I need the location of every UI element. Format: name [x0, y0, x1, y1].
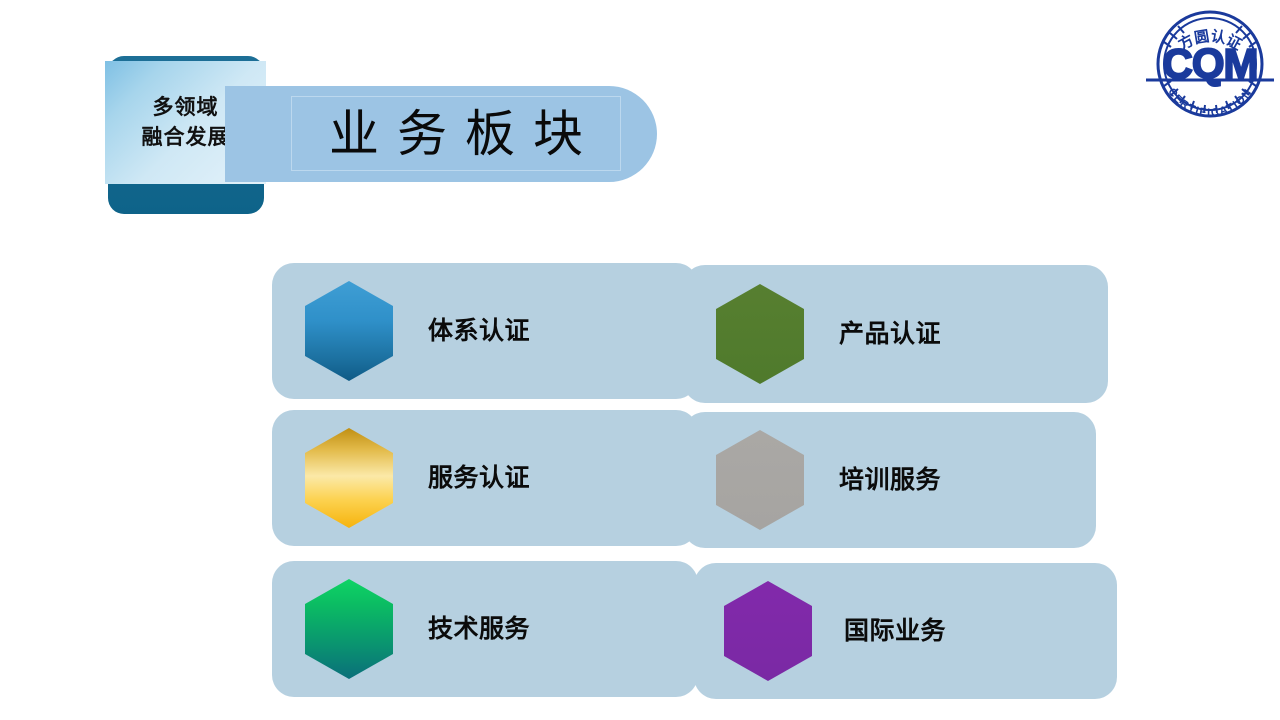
business-card-label-0: 体系认证	[428, 319, 530, 344]
business-card-label-2: 服务认证	[428, 466, 530, 491]
hexagon-icon-blue	[305, 281, 393, 381]
cqm-certification-logo: 方圆认证 CERTIFICATION CQM	[1144, 2, 1276, 122]
svg-text:CERTIFICATION: CERTIFICATION	[1165, 86, 1255, 119]
hexagon-icon-gray	[716, 430, 804, 530]
business-card-5[interactable]: 国际业务	[694, 563, 1117, 699]
slogan-line-2: 融合发展	[142, 127, 230, 148]
business-card-3[interactable]: 培训服务	[683, 412, 1096, 548]
hexagon-icon-green	[716, 284, 804, 384]
slogan-line-1: 多领域	[153, 97, 219, 118]
business-card-1[interactable]: 产品认证	[683, 265, 1108, 403]
hexagon-icon-teal-green	[305, 579, 393, 679]
business-card-label-3: 培训服务	[839, 468, 941, 493]
business-card-0[interactable]: 体系认证	[272, 263, 698, 399]
page-title: 业务板块	[291, 96, 621, 171]
slide-header: 多领域 融合发展 业务板块	[0, 0, 1280, 230]
business-card-label-1: 产品认证	[839, 322, 941, 347]
business-card-4[interactable]: 技术服务	[272, 561, 698, 697]
business-card-2[interactable]: 服务认证	[272, 410, 698, 546]
business-card-label-5: 国际业务	[844, 619, 946, 644]
hexagon-icon-gold	[305, 428, 393, 528]
slide-canvas: 多领域 融合发展 业务板块	[0, 0, 1280, 720]
hexagon-icon-purple	[724, 581, 812, 681]
section-title-pill: 业务板块	[225, 86, 657, 182]
business-card-label-4: 技术服务	[428, 617, 530, 642]
